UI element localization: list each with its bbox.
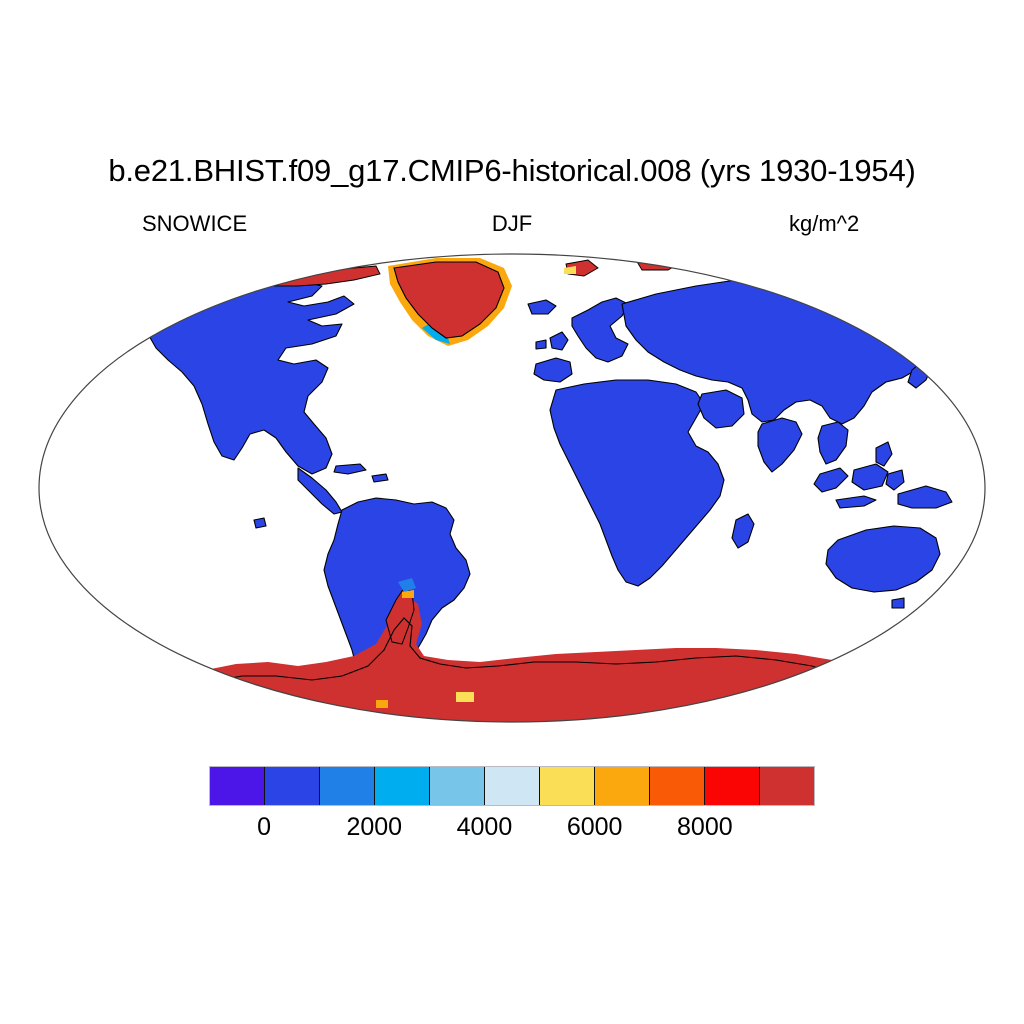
colorbar-tick-6000: 6000 xyxy=(567,812,623,842)
landmass-new-zealand-south xyxy=(960,576,982,598)
colorbar-tick-labels: 02000400060008000 xyxy=(209,812,815,844)
landmass-hawaii xyxy=(254,518,266,528)
colorbar-swatch-9[interactable] xyxy=(705,767,760,805)
colorbar-swatch-5[interactable] xyxy=(485,767,540,805)
map-canvas xyxy=(36,252,988,724)
colorbar-swatch-3[interactable] xyxy=(375,767,430,805)
climate-map-figure: b.e21.BHIST.f09_g17.CMIP6-historical.008… xyxy=(0,0,1024,1024)
landmass-tasmania xyxy=(892,598,904,608)
antarctica-warm-spot-1 xyxy=(376,700,388,708)
canadian-arctic-ice-warm xyxy=(274,260,304,270)
severnaya-zemlya-ice xyxy=(726,254,762,268)
colorbar-swatch-6[interactable] xyxy=(540,767,595,805)
colorbar-tick-0: 0 xyxy=(257,812,271,842)
landmass-aleutian-isle xyxy=(106,332,118,339)
colorbar-swatch-8[interactable] xyxy=(650,767,705,805)
landmass-hispaniola xyxy=(372,474,388,482)
page-title: b.e21.BHIST.f09_g17.CMIP6-historical.008… xyxy=(0,152,1024,190)
world-map xyxy=(36,252,988,724)
antarctica-warm-spot-3 xyxy=(258,714,270,720)
units-label: kg/m^2 xyxy=(789,211,859,237)
colorbar-swatch-1[interactable] xyxy=(265,767,320,805)
landmass-ireland xyxy=(536,340,546,349)
colorbar-tick-2000: 2000 xyxy=(346,812,402,842)
colorbar-tick-8000: 8000 xyxy=(677,812,733,842)
landmass-new-zealand-north xyxy=(976,558,988,576)
colorbar-swatch-7[interactable] xyxy=(595,767,650,805)
colorbar-swatch-0[interactable] xyxy=(210,767,265,805)
landmass-kamchatka xyxy=(924,318,946,348)
severnaya-zemlya-cool xyxy=(752,262,764,270)
colorbar-tick-4000: 4000 xyxy=(457,812,513,842)
colorbar[interactable] xyxy=(209,766,815,806)
colorbar-swatch-4[interactable] xyxy=(430,767,485,805)
antarctica-warm-spot-2 xyxy=(456,692,474,702)
landmass-aleutians xyxy=(84,336,100,344)
colorbar-swatch-10[interactable] xyxy=(760,767,814,805)
colorbar-swatch-2[interactable] xyxy=(320,767,375,805)
season-label: DJF xyxy=(0,211,1024,237)
